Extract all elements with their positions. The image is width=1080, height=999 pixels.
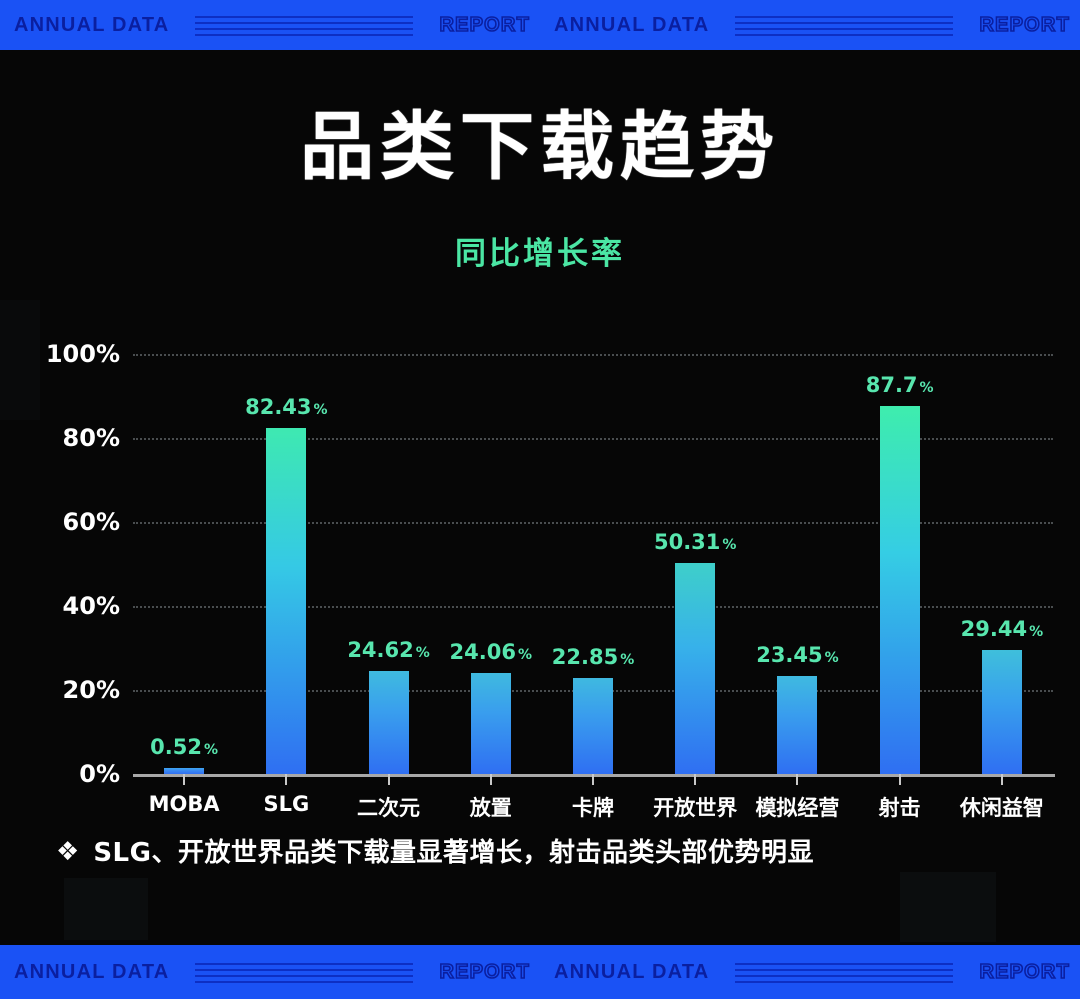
percent-suffix: % <box>722 537 736 553</box>
bar[interactable] <box>471 673 511 774</box>
x-axis-tick <box>490 774 492 785</box>
banner-annual-data-2: ANNUAL DATA <box>554 14 709 37</box>
x-axis-tick <box>1001 774 1003 785</box>
diamond-bullet-icon: ❖ <box>56 838 79 864</box>
bar-value-label: 24.62% <box>347 638 429 662</box>
page-title: 品类下载趋势 <box>0 110 1080 184</box>
bar-value-label: 29.44% <box>961 617 1043 641</box>
bar[interactable] <box>675 563 715 774</box>
x-axis-category-label: 开放世界 <box>653 792 737 822</box>
bar-column[interactable]: 82.43% <box>266 428 306 774</box>
page-subtitle: 同比增长率 <box>0 228 1080 273</box>
bar[interactable] <box>266 428 306 774</box>
banner-annual-data-4: ANNUAL DATA <box>554 961 709 984</box>
gridline <box>133 354 1053 356</box>
bar-column[interactable]: 23.45% <box>777 676 817 774</box>
bar-column[interactable]: 87.7% <box>880 406 920 774</box>
bottom-banner: ANNUAL DATA REPORT ANNUAL DATA REPORT <box>0 945 1080 999</box>
x-axis-tick <box>899 774 901 785</box>
bar-column[interactable]: 24.06% <box>471 673 511 774</box>
bar[interactable] <box>777 676 817 774</box>
banner-lines-1 <box>195 14 413 36</box>
bar-column[interactable]: 24.62% <box>369 671 409 774</box>
x-axis-category-label: 二次元 <box>357 792 420 822</box>
banner-lines-3 <box>195 961 413 983</box>
percent-suffix: % <box>204 742 218 758</box>
footnote: ❖ SLG、开放世界品类下载量显著增长，射击品类头部优势明显 <box>56 832 814 869</box>
bar-value-label: 82.43% <box>245 395 327 419</box>
banner-lines-2 <box>735 14 953 36</box>
bar-column[interactable]: 29.44% <box>982 650 1022 774</box>
percent-suffix: % <box>825 650 839 666</box>
bar-column[interactable]: 50.31% <box>675 563 715 774</box>
bar[interactable] <box>369 671 409 774</box>
banner-report-4: REPORT <box>979 961 1070 984</box>
x-axis-tick <box>285 774 287 785</box>
footnote-text: SLG、开放世界品类下载量显著增长，射击品类头部优势明显 <box>93 832 814 869</box>
annual-data-report-slide: ANNUAL DATA REPORT ANNUAL DATA REPORT 品类… <box>0 0 1080 999</box>
banner-annual-data-1: ANNUAL DATA <box>14 14 169 37</box>
x-axis-tick <box>388 774 390 785</box>
x-axis-tick <box>183 774 185 785</box>
bar-value-label: 87.7% <box>866 373 934 397</box>
banner-report-3: REPORT <box>439 961 530 984</box>
percent-suffix: % <box>920 380 934 396</box>
bar-value-label: 50.31% <box>654 530 736 554</box>
banner-report-2: REPORT <box>979 14 1070 37</box>
background-texture-block <box>64 878 148 940</box>
bar-value-label: 22.85% <box>552 645 634 669</box>
x-axis-category-label: SLG <box>263 792 309 816</box>
x-axis-category-label: 射击 <box>879 792 921 822</box>
bar-value-label: 24.06% <box>450 640 532 664</box>
x-axis-category-label: 休闲益智 <box>960 792 1044 822</box>
banner-lines-4 <box>735 961 953 983</box>
percent-suffix: % <box>1029 624 1043 640</box>
bar-chart: 0.52%MOBA82.43%SLG24.62%二次元24.06%放置22.85… <box>0 330 1080 800</box>
background-texture-block <box>900 872 996 942</box>
bar-column[interactable]: 22.85% <box>573 678 613 774</box>
percent-suffix: % <box>416 645 430 661</box>
x-axis-line <box>133 774 1055 777</box>
x-axis-tick <box>694 774 696 785</box>
bar-value-label: 0.52% <box>150 735 218 759</box>
x-axis-category-label: 卡牌 <box>572 792 614 822</box>
bar-value-label: 23.45% <box>756 643 838 667</box>
x-axis-category-label: 放置 <box>470 792 512 822</box>
percent-suffix: % <box>518 647 532 663</box>
x-axis-category-label: MOBA <box>149 792 220 816</box>
bar[interactable] <box>573 678 613 774</box>
x-axis-tick <box>592 774 594 785</box>
percent-suffix: % <box>314 402 328 418</box>
bar[interactable] <box>982 650 1022 774</box>
percent-suffix: % <box>620 652 634 668</box>
bar[interactable] <box>880 406 920 774</box>
banner-report-1: REPORT <box>439 14 530 37</box>
top-banner: ANNUAL DATA REPORT ANNUAL DATA REPORT <box>0 0 1080 50</box>
x-axis-tick <box>796 774 798 785</box>
x-axis-category-label: 模拟经营 <box>755 792 839 822</box>
banner-annual-data-3: ANNUAL DATA <box>14 961 169 984</box>
